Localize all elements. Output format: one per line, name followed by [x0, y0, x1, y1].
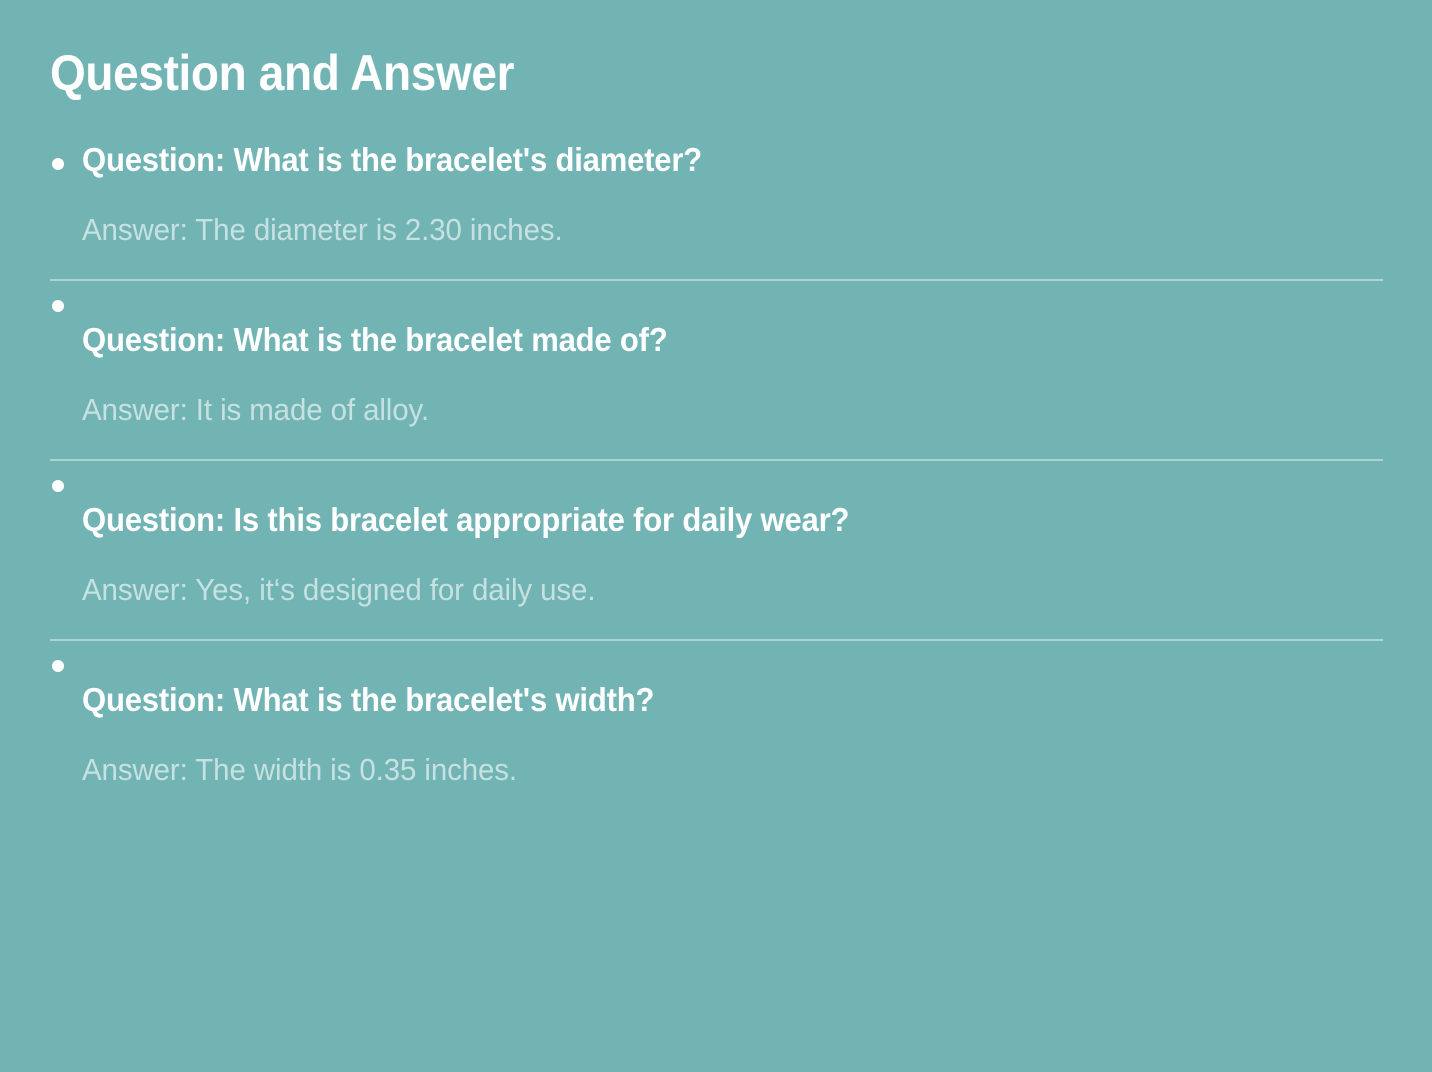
bullet-dot-icon — [52, 300, 64, 312]
question-text: Question: Is this bracelet appropriate f… — [82, 499, 1304, 541]
bullet-dot-icon — [52, 480, 64, 492]
question-and-answer-panel: Question and Answer Question: What is th… — [0, 0, 1432, 1072]
question-text: Question: What is the bracelet's width? — [82, 679, 1304, 721]
page-title: Question and Answer — [50, 0, 1275, 103]
bullet-dot-icon — [52, 660, 64, 672]
answer-text: Answer: The diameter is 2.30 inches. — [82, 181, 1317, 250]
list-item: Question: What is the bracelet made of? … — [50, 281, 1382, 461]
qa-list: Question: What is the bracelet's diamete… — [50, 139, 1382, 790]
question-text: Question: What is the bracelet made of? — [82, 319, 1304, 361]
answer-text: Answer: It is made of alloy. — [82, 361, 1317, 430]
list-item: Question: Is this bracelet appropriate f… — [50, 461, 1382, 641]
bullet-dot-icon — [52, 158, 64, 170]
list-item: Question: What is the bracelet's diamete… — [50, 139, 1382, 281]
answer-text: Answer: The width is 0.35 inches. — [82, 721, 1317, 790]
list-item: Question: What is the bracelet's width? … — [50, 641, 1382, 790]
question-text: Question: What is the bracelet's diamete… — [82, 139, 1304, 181]
answer-text: Answer: Yes, it‘s designed for daily use… — [82, 541, 1317, 610]
